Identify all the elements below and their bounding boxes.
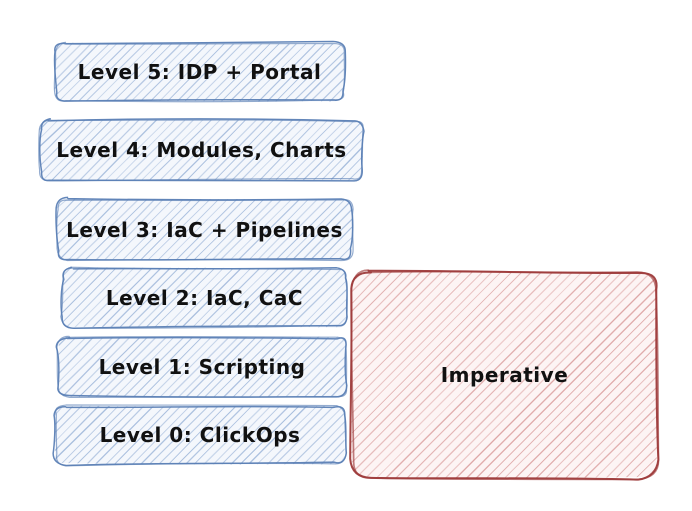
maturity-level-label: Level 3: IaC + Pipelines <box>66 220 343 240</box>
maturity-level-box-3[interactable]: Level 3: IaC + Pipelines <box>57 199 352 260</box>
maturity-level-box-5[interactable]: Level 5: IDP + Portal <box>55 43 344 101</box>
maturity-level-box-4[interactable]: Level 4: Modules, Charts <box>40 120 363 180</box>
maturity-level-label: Level 0: ClickOps <box>100 425 301 445</box>
maturity-level-label: Level 2: IaC, CaC <box>106 288 303 308</box>
maturity-level-label: Level 1: Scripting <box>99 357 306 377</box>
maturity-level-box-0[interactable]: Level 0: ClickOps <box>55 406 345 464</box>
callout-box-imperative[interactable]: Imperative <box>352 272 657 478</box>
maturity-level-label: Level 4: Modules, Charts <box>56 140 346 160</box>
diagram-canvas: ImperativeLevel 5: IDP + PortalLevel 4: … <box>0 0 692 511</box>
maturity-level-box-1[interactable]: Level 1: Scripting <box>58 337 346 397</box>
maturity-level-label: Level 5: IDP + Portal <box>78 62 322 82</box>
callout-label: Imperative <box>441 365 569 385</box>
maturity-level-box-2[interactable]: Level 2: IaC, CaC <box>62 268 347 327</box>
